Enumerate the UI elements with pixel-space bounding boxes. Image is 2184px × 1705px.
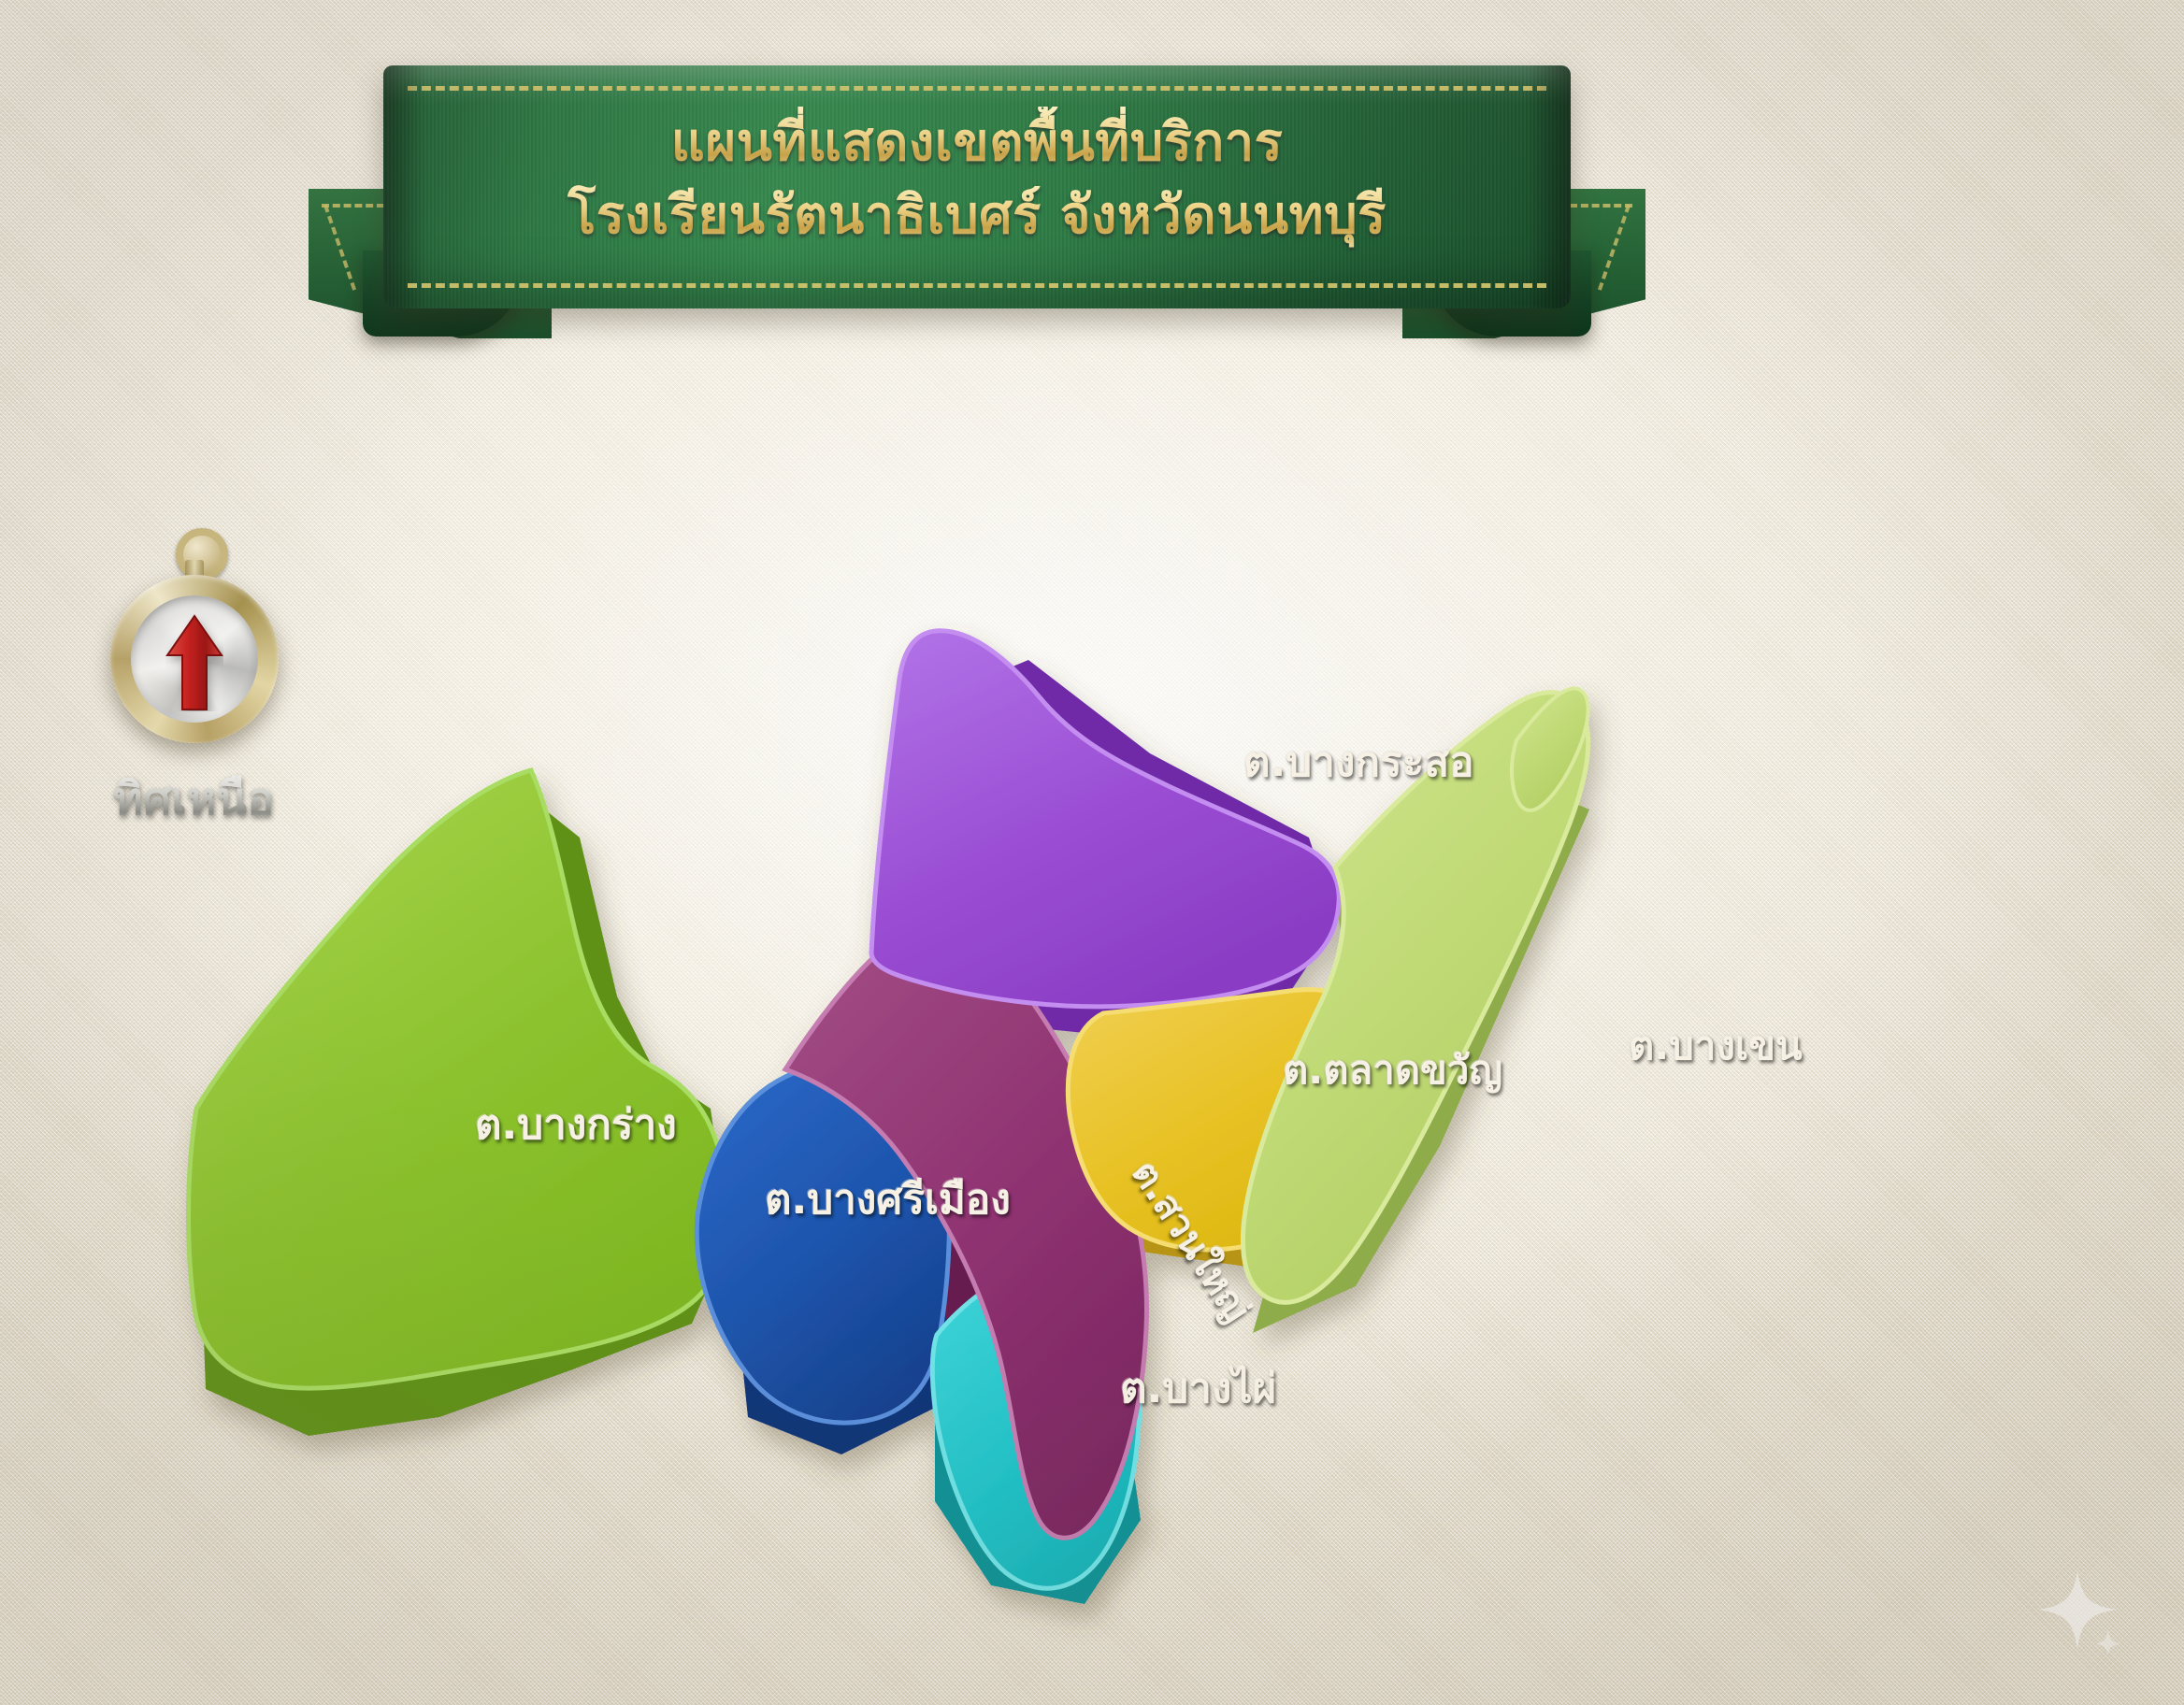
title-ribbon-banner: แผนที่แสดงเขตพื้นที่บริการ โรงเรียนรัตนา… <box>309 65 1645 318</box>
ribbon-body: แผนที่แสดงเขตพื้นที่บริการ โรงเรียนรัตนา… <box>383 65 1571 308</box>
region-bangkrang[interactable] <box>189 770 729 1388</box>
north-arrow-icon <box>165 614 223 711</box>
banner-title-line-2: โรงเรียนรัตนาธิเบศร์ จังหวัดนนทบุรี <box>383 179 1571 252</box>
map-svg <box>131 374 2057 1664</box>
map-regions-group <box>189 631 1590 1604</box>
compass-bezel <box>110 575 279 743</box>
service-area-map: ต.บางกระสอ ต.ตลาดขวัญ ต.บางเขน ต.บางกร่า… <box>131 374 2057 1664</box>
ribbon-stitch-line <box>1598 205 1631 291</box>
banner-text-block: แผนที่แสดงเขตพื้นที่บริการ โรงเรียนรัตนา… <box>383 107 1571 252</box>
compass-direction-label: ทิศเหนือ <box>56 764 331 835</box>
compass-face <box>131 595 258 723</box>
sparkle-icon <box>2033 1565 2122 1655</box>
compass-rose: ทิศเหนือ <box>105 528 282 781</box>
banner-title-line-1: แผนที่แสดงเขตพื้นที่บริการ <box>383 107 1571 179</box>
ribbon-stitch-line <box>323 205 356 291</box>
